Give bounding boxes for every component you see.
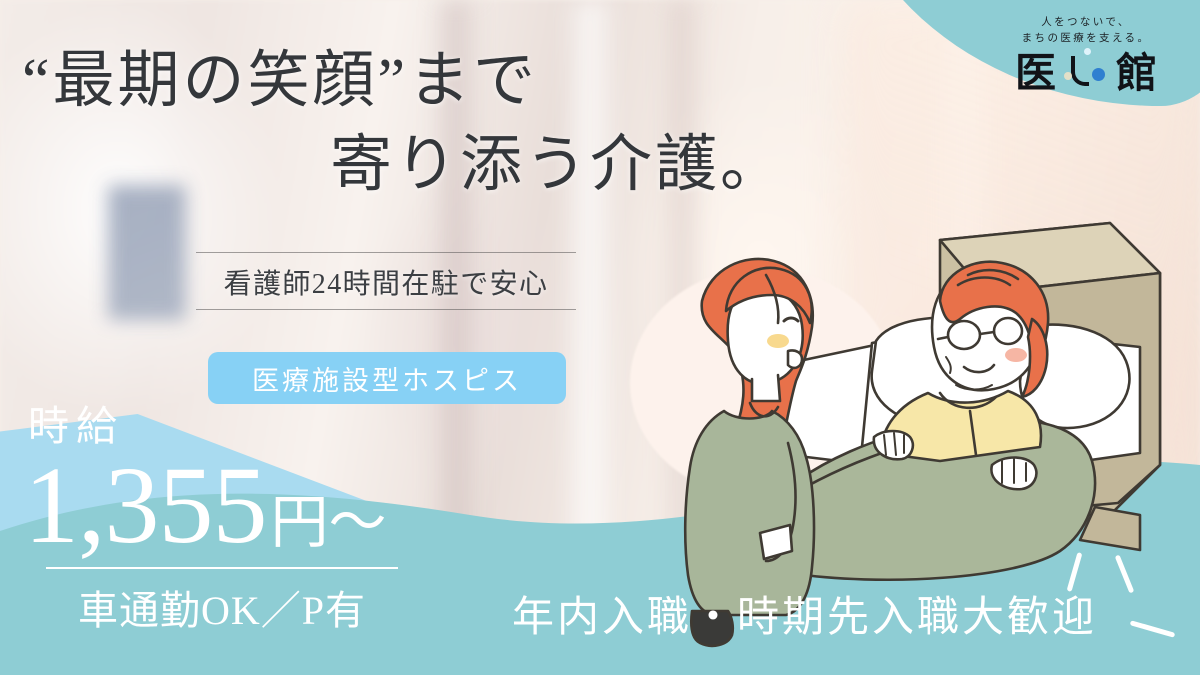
- job-ad-banner: 人をつないで、 まちの医療を支える。 医 館 “最期の笑顔”まで 寄り添う介護。…: [0, 0, 1200, 675]
- sparkle-line: [1130, 620, 1176, 637]
- wage-label: 時給: [20, 406, 400, 447]
- logo-shin-dot-blue: [1092, 68, 1105, 81]
- sparkle-line: [1115, 555, 1135, 594]
- headline-line-1: “最期の笑顔”まで: [0, 44, 860, 120]
- logo-kanji-kan: 館: [1116, 53, 1157, 94]
- logo-shin-stroke: [1071, 56, 1089, 86]
- logo-shin-icon: [1062, 52, 1110, 96]
- wage-amount: 1,355: [24, 449, 267, 561]
- sparkle-lines-icon: [1050, 548, 1200, 658]
- headline: “最期の笑顔”まで 寄り添う介護。: [0, 44, 860, 203]
- wage-note: 車通勤OK／P有: [46, 569, 398, 636]
- catch-copy: 年内入職・時期先入職大歓迎: [512, 583, 1097, 644]
- brand-logo: 人をつないで、 まちの医療を支える。 医 館: [990, 14, 1182, 96]
- subcopy-text: 看護師24時間在駐で安心: [196, 253, 576, 309]
- subcopy-block: 看護師24時間在駐で安心: [196, 252, 576, 310]
- logo-mark: 医 館: [990, 52, 1182, 96]
- logo-shin-dot-white: [1084, 48, 1091, 55]
- logo-kanji-i: 医: [1015, 53, 1056, 94]
- subcopy-rule-bottom: [196, 309, 576, 310]
- headline-line-2: 寄り添う介護。: [0, 128, 860, 204]
- logo-tagline-line2: まちの医療を支える。: [990, 30, 1182, 46]
- sparkle-line: [1067, 552, 1083, 592]
- logo-shin-dot-pale: [1064, 72, 1072, 80]
- wage-amount-row: 1,355 円～: [20, 449, 400, 561]
- background-door-blur: [108, 185, 186, 320]
- wage-unit: 円～: [271, 475, 387, 559]
- logo-tagline-line1: 人をつないで、: [990, 14, 1182, 30]
- hospice-type-badge: 医療施設型ホスピス: [208, 352, 566, 404]
- wage-block: 時給 1,355 円～ 車通勤OK／P有: [20, 406, 400, 636]
